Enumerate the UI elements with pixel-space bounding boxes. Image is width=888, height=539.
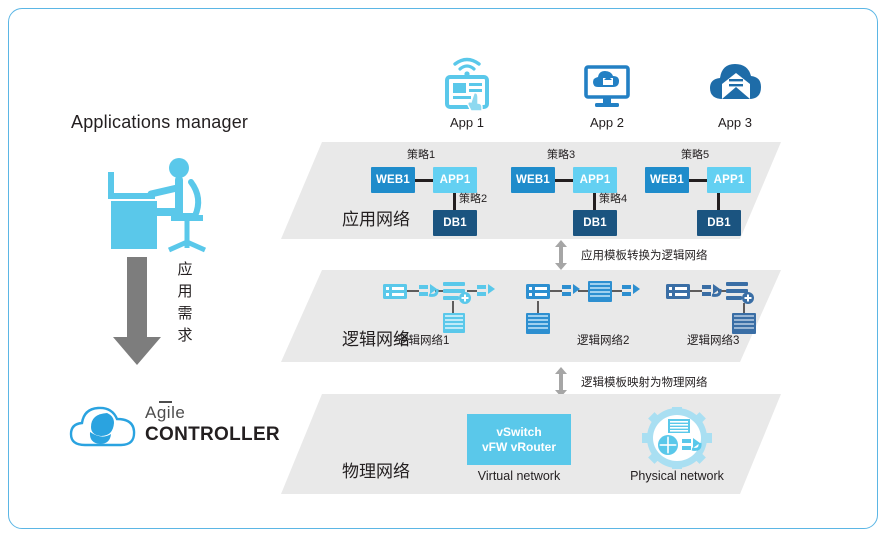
layer-label-application-network: 应用网络 bbox=[342, 205, 410, 230]
link-app-db bbox=[717, 193, 720, 210]
node-db[interactable]: DB1 bbox=[573, 210, 617, 236]
node-web[interactable]: WEB1 bbox=[645, 167, 689, 193]
cloud-envelope-icon bbox=[685, 53, 785, 111]
page-title: Applications manager bbox=[71, 112, 248, 133]
logical-network-label: 逻辑网络3 bbox=[687, 332, 739, 348]
app-item-2: App 2 bbox=[557, 53, 657, 130]
down-arrow-icon bbox=[109, 257, 165, 367]
logo-line1: Agile bbox=[145, 403, 185, 423]
tablet-wifi-touch-icon bbox=[417, 53, 517, 111]
virtual-network-caption: Virtual network bbox=[467, 469, 571, 483]
double-arrow-vertical-icon bbox=[554, 240, 568, 270]
policy-label: 策略2 bbox=[459, 190, 487, 206]
monitor-cloud-icon bbox=[557, 53, 657, 111]
logical-network-label: 逻辑网络1 bbox=[397, 332, 449, 348]
app-label: App 3 bbox=[685, 115, 785, 130]
transition-note: 逻辑模板映射为物理网络 bbox=[581, 374, 708, 390]
app-label: App 1 bbox=[417, 115, 517, 130]
node-web[interactable]: WEB1 bbox=[511, 167, 555, 193]
policy-label: 策略1 bbox=[407, 146, 435, 162]
policy-label: 策略5 bbox=[681, 146, 709, 162]
virtual-network-box[interactable]: vSwitch vFW vRouter bbox=[467, 414, 571, 465]
transition-note: 应用模板转换为逻辑网络 bbox=[581, 247, 708, 263]
double-arrow-vertical-icon bbox=[554, 367, 568, 397]
node-web[interactable]: WEB1 bbox=[371, 167, 415, 193]
diagram-frame: Applications manager 应用需求 bbox=[8, 8, 878, 529]
link-web-app bbox=[415, 179, 433, 182]
logical-group-3 bbox=[664, 279, 774, 340]
cloud-swirl-icon bbox=[69, 401, 139, 453]
layer-label-physical-network: 物理网络 bbox=[342, 457, 410, 482]
app-item-3: App 3 bbox=[685, 53, 785, 130]
link-app-db bbox=[593, 193, 596, 210]
logical-network-label: 逻辑网络2 bbox=[577, 332, 629, 348]
gear-network-icon bbox=[638, 407, 716, 469]
demand-label: 应用需求 bbox=[174, 259, 196, 347]
policy-label: 策略4 bbox=[599, 190, 627, 206]
app-item-1: App 1 bbox=[417, 53, 517, 130]
app-label: App 2 bbox=[557, 115, 657, 130]
agile-controller-logo: Agile CONTROLLER bbox=[69, 401, 269, 457]
vbox-line1: vSwitch bbox=[496, 425, 541, 440]
vbox-line2: vFW vRouter bbox=[482, 440, 556, 455]
logo-line2: CONTROLLER bbox=[145, 424, 280, 446]
node-db[interactable]: DB1 bbox=[433, 210, 477, 236]
node-app[interactable]: APP1 bbox=[707, 167, 751, 193]
physical-network-caption: Physical network bbox=[621, 469, 733, 483]
node-db[interactable]: DB1 bbox=[697, 210, 741, 236]
policy-label: 策略3 bbox=[547, 146, 575, 162]
logical-group-2 bbox=[524, 279, 644, 340]
link-app-db bbox=[453, 193, 456, 210]
link-web-app bbox=[689, 179, 707, 182]
logical-group-1 bbox=[381, 279, 501, 340]
link-web-app bbox=[555, 179, 573, 182]
person-at-desk-icon bbox=[107, 154, 217, 254]
